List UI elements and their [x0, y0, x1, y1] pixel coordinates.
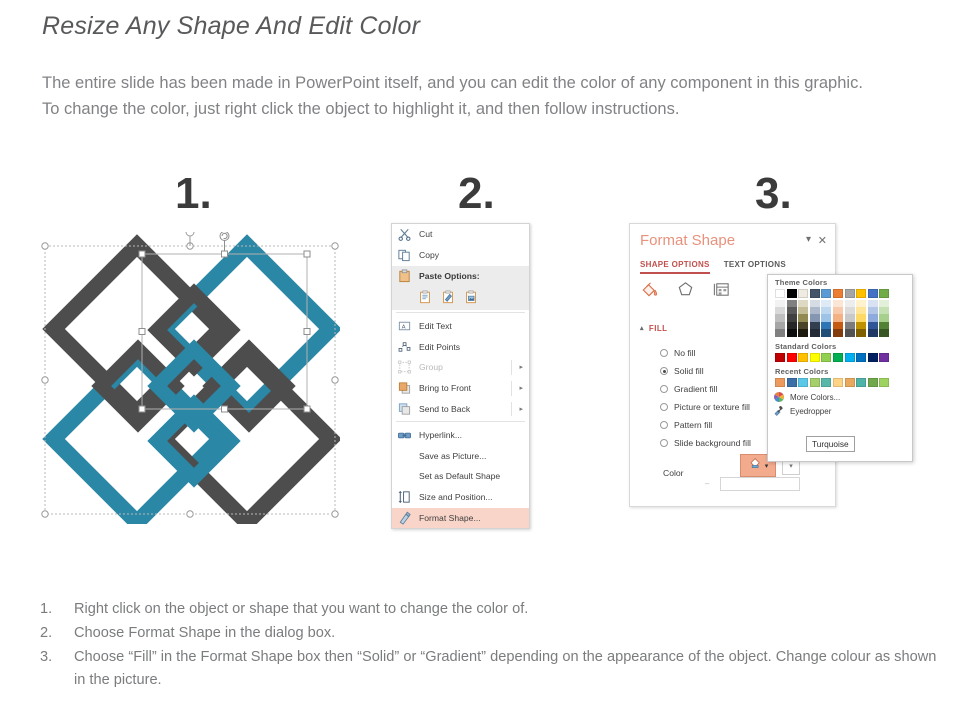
theme-color-column[interactable] [845, 289, 855, 337]
theme-shade-swatch[interactable] [810, 300, 820, 307]
theme-color-column[interactable] [775, 289, 785, 337]
recent-colors-row[interactable] [768, 378, 912, 387]
theme-shade-swatch[interactable] [810, 314, 820, 321]
radio-label: Solid fill [674, 366, 704, 376]
menu-item-hyperlink[interactable]: Hyperlink... [392, 424, 529, 445]
theme-color-swatch[interactable] [833, 289, 843, 298]
menu-item-set-default-shape[interactable]: Set as Default Shape [392, 466, 529, 487]
color-palette-flyout[interactable]: Theme Colors Standard Colors Recent Colo… [767, 274, 913, 462]
theme-shade-swatch[interactable] [879, 314, 889, 321]
copy-icon [397, 248, 412, 263]
menu-item-save-as-picture[interactable]: Save as Picture... [392, 445, 529, 466]
more-colors-item[interactable]: More Colors... [773, 391, 912, 405]
theme-shade-swatch[interactable] [787, 322, 797, 329]
expand-triangle-icon: ▴ [640, 324, 644, 332]
color-wheel-icon [773, 391, 785, 405]
radio-picture-fill[interactable]: Picture or texture fill [660, 402, 750, 412]
menu-item-edit-text[interactable]: A Edit Text [392, 315, 529, 336]
recent-color-swatch[interactable] [810, 378, 820, 387]
radio-circle-icon [660, 385, 668, 393]
size-properties-icon[interactable] [712, 280, 731, 304]
menu-label: Format Shape... [419, 513, 481, 523]
radio-gradient-fill[interactable]: Gradient fill [660, 384, 717, 394]
list-index: 1. [40, 598, 74, 621]
menu-label: Group [419, 362, 443, 372]
menu-item-size-and-position[interactable]: Size and Position... [392, 487, 529, 508]
svg-text:A: A [402, 324, 406, 330]
theme-shade-swatch[interactable] [879, 329, 889, 336]
eyedropper-label: Eyedropper [790, 407, 831, 416]
theme-shade-swatch[interactable] [868, 307, 878, 314]
theme-color-swatch[interactable] [868, 289, 878, 298]
theme-shade-swatch[interactable] [810, 322, 820, 329]
effects-pentagon-icon[interactable] [676, 280, 695, 304]
paste-keep-text-icon[interactable] [441, 290, 455, 306]
theme-shade-swatch[interactable] [821, 307, 831, 314]
theme-shade-swatch[interactable] [798, 300, 808, 307]
list-item: 3. Choose “Fill” in the Format Shape box… [40, 646, 940, 692]
radio-circle-icon [660, 403, 668, 411]
radio-circle-selected-icon [660, 367, 668, 375]
theme-color-column[interactable] [787, 289, 797, 337]
theme-shade-swatch[interactable] [833, 322, 843, 329]
transparency-field[interactable] [720, 477, 800, 491]
menu-label: Set as Default Shape [419, 471, 500, 481]
group-icon [397, 360, 412, 375]
theme-shade-swatch[interactable] [833, 329, 843, 336]
standard-color-swatch[interactable] [775, 353, 785, 362]
theme-color-column[interactable] [821, 289, 831, 337]
fill-bucket-icon[interactable] [640, 280, 659, 304]
theme-shade-swatch[interactable] [879, 322, 889, 329]
theme-shade-swatch[interactable] [845, 329, 855, 336]
menu-label: Cut [419, 229, 432, 239]
chevron-right-icon: ▸ [519, 384, 523, 392]
theme-shade-swatch[interactable] [856, 329, 866, 336]
submenu-divider [511, 381, 512, 396]
menu-label: Bring to Front [419, 383, 471, 393]
context-menu[interactable]: Cut Copy Paste Options: [391, 223, 530, 529]
radio-label: Slide background fill [674, 438, 751, 448]
theme-shade-swatch[interactable] [879, 307, 889, 314]
paste-picture-icon[interactable] [464, 290, 478, 306]
edit-text-icon: A [397, 318, 412, 333]
menu-label: Save as Picture... [419, 451, 486, 461]
size-position-icon [397, 490, 412, 505]
rotation-handle-inner [220, 232, 229, 251]
eyedropper-icon [773, 405, 785, 419]
fill-section-header[interactable]: ▴FILL [640, 324, 667, 333]
standard-color-swatch[interactable] [821, 353, 831, 362]
standard-color-swatch[interactable] [856, 353, 866, 362]
color-label: Color [663, 468, 684, 478]
radio-circle-icon [660, 439, 668, 447]
format-shape-icon [397, 510, 412, 525]
recent-color-swatch[interactable] [833, 378, 843, 387]
chevron-right-icon: ▸ [519, 363, 523, 371]
radio-circle-icon [660, 421, 668, 429]
theme-shade-swatch[interactable] [787, 300, 797, 307]
theme-shade-swatch[interactable] [787, 307, 797, 314]
list-index: 3. [40, 646, 74, 692]
theme-shade-swatch[interactable] [868, 314, 878, 321]
theme-shade-swatch[interactable] [810, 329, 820, 336]
chevron-right-icon: ▸ [519, 405, 523, 413]
theme-shade-swatch[interactable] [775, 300, 785, 307]
menu-divider [396, 421, 525, 422]
edit-points-icon [397, 339, 412, 354]
standard-colors-header: Standard Colors [768, 337, 912, 353]
standard-color-swatch[interactable] [787, 353, 797, 362]
field-dash: – [705, 479, 709, 488]
format-shape-tabs[interactable]: SHAPE OPTIONS TEXT OPTIONS [640, 260, 786, 274]
radio-label: Picture or texture fill [674, 402, 750, 412]
theme-shade-swatch[interactable] [821, 329, 831, 336]
radio-circle-icon [660, 349, 668, 357]
fill-section-label: FILL [649, 324, 667, 333]
radio-slide-background-fill[interactable]: Slide background fill [660, 438, 751, 448]
step-number-3: 3. [755, 172, 792, 216]
theme-shade-swatch[interactable] [856, 300, 866, 307]
recent-colors-header: Recent Colors [768, 362, 912, 378]
theme-shade-swatch[interactable] [833, 300, 843, 307]
radio-label: Gradient fill [674, 384, 717, 394]
theme-color-swatch[interactable] [856, 289, 866, 298]
theme-shade-swatch[interactable] [845, 314, 855, 321]
format-shape-title: Format Shape [640, 232, 735, 249]
clipboard-icon [397, 268, 412, 283]
theme-shade-swatch[interactable] [775, 314, 785, 321]
theme-color-swatch[interactable] [845, 289, 855, 298]
list-index: 2. [40, 622, 74, 645]
radio-no-fill[interactable]: No fill [660, 348, 696, 358]
theme-shade-swatch[interactable] [775, 322, 785, 329]
palette-footer[interactable]: More Colors... Eyedropper [768, 387, 912, 419]
list-item: 2. Choose Format Shape in the dialog box… [40, 622, 940, 645]
list-text: Choose “Fill” in the Format Shape box th… [74, 646, 940, 692]
diamond-blue-bottomleft [54, 356, 221, 523]
theme-shade-swatch[interactable] [810, 307, 820, 314]
theme-shade-swatch[interactable] [868, 329, 878, 336]
theme-shade-swatch[interactable] [775, 329, 785, 336]
recent-color-swatch[interactable] [798, 378, 808, 387]
standard-color-swatch[interactable] [868, 353, 878, 362]
scissors-icon [397, 227, 412, 242]
theme-shade-swatch[interactable] [833, 314, 843, 321]
theme-shade-swatch[interactable] [879, 300, 889, 307]
theme-shade-swatch[interactable] [775, 307, 785, 314]
standard-color-swatch[interactable] [798, 353, 808, 362]
color-tooltip: Turquoise [806, 436, 855, 452]
list-text: Choose Format Shape in the dialog box. [74, 622, 940, 645]
diamond-gray-topleft [54, 246, 221, 413]
submenu-divider [511, 360, 512, 375]
theme-shade-swatch[interactable] [821, 300, 831, 307]
theme-shade-swatch[interactable] [798, 322, 808, 329]
panel-options-caret-icon[interactable]: ▾ [806, 234, 811, 245]
hyperlink-icon [397, 427, 412, 442]
menu-item-edit-points[interactable]: Edit Points [392, 336, 529, 357]
color-dropdown-arrow-icon[interactable]: ▾ [765, 462, 769, 470]
standard-color-swatch[interactable] [845, 353, 855, 362]
theme-shade-swatch[interactable] [833, 307, 843, 314]
radio-solid-fill[interactable]: Solid fill [660, 366, 704, 376]
theme-shade-swatch[interactable] [787, 329, 797, 336]
menu-label: Paste Options: [419, 271, 480, 281]
theme-color-column[interactable] [810, 289, 820, 337]
page-title: Resize Any Shape And Edit Color [42, 12, 420, 41]
theme-shade-swatch[interactable] [845, 322, 855, 329]
interlocking-diamonds-icon[interactable] [40, 232, 340, 524]
diamond-graphic-panel[interactable] [40, 232, 340, 524]
theme-shade-swatch[interactable] [821, 322, 831, 329]
theme-shade-swatch[interactable] [787, 314, 797, 321]
theme-color-column[interactable] [798, 289, 808, 337]
menu-label: Send to Back [419, 404, 470, 414]
recent-color-swatch[interactable] [845, 378, 855, 387]
eyedropper-item[interactable]: Eyedropper [773, 405, 912, 419]
standard-color-swatch[interactable] [879, 353, 889, 362]
theme-color-swatch[interactable] [798, 289, 808, 298]
theme-shade-swatch[interactable] [798, 307, 808, 314]
menu-item-paste-options: Paste Options: [392, 266, 529, 287]
theme-shade-swatch[interactable] [856, 307, 866, 314]
theme-shade-swatch[interactable] [856, 322, 866, 329]
step-number-2: 2. [458, 172, 495, 216]
instructions-list: 1. Right click on the object or shape th… [40, 598, 940, 693]
submenu-divider [511, 402, 512, 417]
radio-label: No fill [674, 348, 696, 358]
recent-color-swatch[interactable] [868, 378, 878, 387]
standard-color-swatch[interactable] [810, 353, 820, 362]
menu-item-format-shape[interactable]: Format Shape... [392, 508, 529, 529]
standard-color-swatch[interactable] [833, 353, 843, 362]
paste-keep-source-icon[interactable] [418, 290, 432, 306]
tab-shape-options[interactable]: SHAPE OPTIONS [640, 260, 710, 274]
recent-color-swatch[interactable] [856, 378, 866, 387]
list-text: Right click on the object or shape that … [74, 598, 940, 621]
tab-text-options[interactable]: TEXT OPTIONS [724, 260, 786, 269]
fill-bucket-icon [748, 456, 763, 476]
standard-colors-row[interactable] [768, 353, 912, 362]
theme-shade-swatch[interactable] [798, 314, 808, 321]
theme-color-column[interactable] [868, 289, 878, 337]
theme-color-swatch[interactable] [787, 289, 797, 298]
theme-color-column[interactable] [879, 289, 889, 337]
theme-shade-swatch[interactable] [868, 300, 878, 307]
slide-root: Resize Any Shape And Edit Color The enti… [0, 0, 960, 720]
theme-shade-swatch[interactable] [856, 314, 866, 321]
more-colors-label: More Colors... [790, 393, 840, 402]
theme-color-column[interactable] [833, 289, 843, 337]
list-item: 1. Right click on the object or shape th… [40, 598, 940, 621]
step-number-1: 1. [175, 172, 212, 216]
menu-label: Size and Position... [419, 492, 493, 502]
recent-color-swatch[interactable] [787, 378, 797, 387]
menu-item-send-to-back[interactable]: Send to Back ▸ [392, 399, 529, 420]
bring-to-front-icon [397, 381, 412, 396]
theme-color-swatch[interactable] [775, 289, 785, 298]
theme-color-swatch[interactable] [810, 289, 820, 298]
recent-color-swatch[interactable] [879, 378, 889, 387]
theme-shade-swatch[interactable] [798, 329, 808, 336]
menu-label: Edit Points [419, 342, 460, 352]
theme-colors-header: Theme Colors [768, 275, 912, 289]
recent-color-swatch[interactable] [821, 378, 831, 387]
paste-options-row[interactable] [392, 286, 529, 310]
theme-shade-swatch[interactable] [868, 322, 878, 329]
menu-label: Edit Text [419, 321, 452, 331]
menu-divider [396, 312, 525, 313]
radio-label: Pattern fill [674, 420, 712, 430]
radio-pattern-fill[interactable]: Pattern fill [660, 420, 712, 430]
recent-color-swatch[interactable] [775, 378, 785, 387]
theme-color-column[interactable] [856, 289, 866, 337]
menu-item-cut[interactable]: Cut [392, 224, 529, 245]
menu-item-group[interactable]: Group ▸ [392, 357, 529, 378]
send-to-back-icon [397, 401, 412, 416]
theme-shade-swatch[interactable] [845, 300, 855, 307]
format-shape-icon-row[interactable] [640, 280, 731, 304]
theme-colors-grid[interactable] [768, 289, 912, 337]
menu-label: Hyperlink... [419, 430, 462, 440]
menu-item-copy[interactable]: Copy [392, 245, 529, 266]
theme-color-swatch[interactable] [879, 289, 889, 298]
menu-label: Copy [419, 250, 439, 260]
menu-item-bring-to-front[interactable]: Bring to Front ▸ [392, 378, 529, 399]
intro-paragraph: The entire slide has been made in PowerP… [42, 70, 872, 122]
theme-shade-swatch[interactable] [821, 314, 831, 321]
theme-shade-swatch[interactable] [845, 307, 855, 314]
close-icon[interactable]: ✕ [818, 234, 827, 247]
diamond-gray-bottomright [164, 356, 331, 523]
theme-color-swatch[interactable] [821, 289, 831, 298]
